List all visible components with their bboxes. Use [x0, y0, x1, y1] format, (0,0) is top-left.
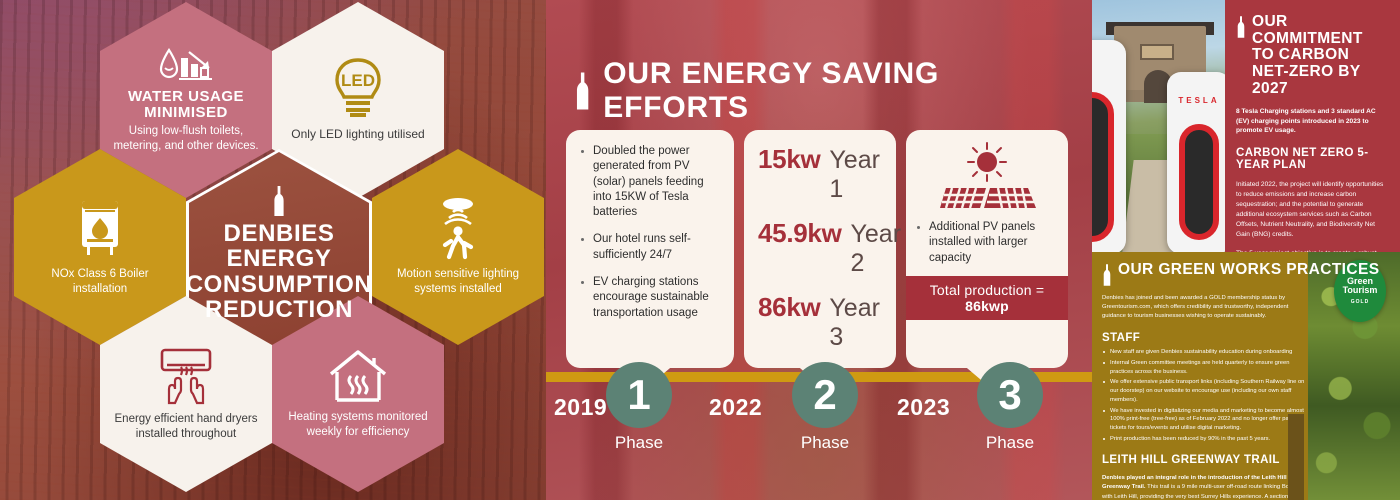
list-item: We have invested in digitalizing our med…	[1102, 407, 1307, 433]
list-item: EV charging stations encourage sustainab…	[580, 275, 720, 321]
card-energy-bullets: Doubled the power generated from PV (sol…	[566, 130, 734, 368]
hex-sub-nox: NOx Class 6 Boiler installation	[26, 267, 174, 296]
timeline-year-2023: 2023	[897, 394, 950, 421]
trail-paragraph: Denbies played an integral role in the i…	[1102, 474, 1302, 500]
phase-marker-2[interactable]: 2 Phase	[792, 362, 858, 453]
total-production-label: Total production =	[930, 282, 1045, 298]
hand-dryer-icon	[155, 347, 217, 405]
boiler-flame-icon	[74, 197, 126, 259]
tesla-charger-left	[1092, 40, 1126, 252]
total-production-value: 86kwp	[965, 298, 1009, 314]
svg-text:LED: LED	[341, 71, 375, 90]
hex-sub-dryer: Energy efficient hand dryers installed t…	[112, 412, 260, 441]
commitment-subheading: CARBON NET ZERO 5-YEAR PLAN	[1236, 147, 1387, 171]
phase-number-3: 3	[977, 362, 1043, 428]
staff-bullet-list: New staff are given Denbies sustainabili…	[1102, 348, 1307, 443]
list-item: We offer extensive public transport link…	[1102, 378, 1307, 404]
commitment-section: TESLA OUR COMMITMENT TO CARBON NET-ZERO …	[1092, 0, 1400, 252]
card-generation-figures: 15kw Year 1 45.9kw Year 2 86kw Year 3	[744, 130, 896, 368]
badge-line-3: GOLD	[1351, 299, 1369, 305]
brand-title: DENBIES ENERGY CONSUMPTION REDUCTION	[186, 221, 373, 323]
house-heat-waves-icon	[327, 348, 389, 404]
hex-sub-led: Only LED lighting utilised	[291, 127, 424, 142]
phase-number-1: 1	[606, 362, 672, 428]
total-production-bar: Total production = 86kwp	[906, 276, 1068, 320]
kw-value-year-3: 86kw	[758, 292, 820, 323]
timeline-phases: 2019 2022 2023 1 Phase 2 Phase 3 Phase	[546, 338, 1092, 468]
green-works-intro: Denbies has joined and been awarded a GO…	[1102, 294, 1302, 321]
charger-slot	[1092, 92, 1114, 242]
kw-value-year-2: 45.9kw	[758, 218, 842, 249]
charger-slot	[1179, 124, 1219, 240]
infographic-page: WATER USAGE MINIMISED Using low-flush to…	[0, 0, 1400, 500]
commitment-paragraph-1: Initiated 2022, the project will identif…	[1236, 180, 1387, 239]
hex-title-water: WATER USAGE MINIMISED	[112, 89, 260, 120]
kw-label-year-1: Year 1	[829, 146, 882, 204]
phase-marker-3[interactable]: 3 Phase	[977, 362, 1043, 453]
energy-heading-row: OUR ENERGY SAVING EFFORTS	[574, 57, 1074, 125]
commitment-text-block: OUR COMMITMENT TO CARBON NET-ZERO BY 202…	[1225, 0, 1400, 252]
energy-cards: Doubled the power generated from PV (sol…	[566, 130, 1076, 368]
tree-trunk	[1288, 414, 1304, 500]
motion-sensor-walking-person-icon	[431, 197, 485, 261]
timeline-year-2022: 2022	[709, 394, 762, 421]
kw-value-year-1: 15kw	[758, 144, 820, 175]
list-item: Print production has been reduced by 90%…	[1102, 435, 1307, 444]
phase-marker-1[interactable]: 1 Phase	[606, 362, 672, 453]
wine-bottle-icon	[1236, 16, 1246, 38]
hex-card-motion-lighting[interactable]: Motion sensitive lighting systems instal…	[372, 149, 544, 345]
panel-energy-saving-efforts: OUR ENERGY SAVING EFFORTS Doubled the po…	[546, 0, 1092, 500]
panel-hexagon-grid: WATER USAGE MINIMISED Using low-flush to…	[0, 0, 546, 500]
panel-right-column: TESLA OUR COMMITMENT TO CARBON NET-ZERO …	[1092, 0, 1400, 500]
table-row: 15kw Year 1	[758, 144, 882, 204]
kw-label-year-2: Year 2	[851, 220, 902, 278]
energy-heading: OUR ENERGY SAVING EFFORTS	[603, 57, 1074, 125]
phase-label-3: Phase	[977, 433, 1043, 453]
wine-bottle-icon	[272, 186, 286, 216]
wine-bottle-icon	[1102, 264, 1112, 286]
list-item: Internal Green committee meetings are he…	[1102, 359, 1307, 376]
green-works-heading: OUR GREEN WORKS PRACTICES	[1118, 262, 1379, 279]
wine-bottle-icon	[574, 71, 591, 111]
phase-number-2: 2	[792, 362, 858, 428]
sun-solar-panel-icon	[928, 142, 1046, 218]
phase-label-1: Phase	[606, 433, 672, 453]
tesla-wordmark: TESLA	[1167, 96, 1225, 105]
tesla-charger-right: TESLA	[1167, 72, 1225, 252]
list-item: Additional PV panels installed with larg…	[916, 220, 1058, 266]
hex-sub-heating: Heating systems monitored weekly for eff…	[284, 410, 432, 439]
table-row: 45.9kw Year 2	[758, 218, 882, 278]
list-item: Our hotel runs self-sufficiently 24/7	[580, 232, 720, 263]
tesla-supercharger-photo: TESLA	[1092, 0, 1225, 252]
badge-line-2: Tourism	[1343, 286, 1378, 296]
hex-sub-motion: Motion sensitive lighting systems instal…	[384, 267, 532, 296]
green-works-section: Green Tourism GOLD OUR GREEN WORKS PRACT…	[1092, 252, 1400, 500]
list-item: New staff are given Denbies sustainabili…	[1102, 348, 1307, 357]
commitment-intro: 8 Tesla Charging stations and 3 standard…	[1236, 107, 1387, 137]
phase-label-2: Phase	[792, 433, 858, 453]
list-item: Doubled the power generated from PV (sol…	[580, 144, 720, 220]
water-drop-bar-chart-icon	[157, 46, 215, 84]
commitment-heading: OUR COMMITMENT TO CARBON NET-ZERO BY 202…	[1252, 14, 1387, 98]
timeline-year-2019: 2019	[554, 394, 607, 421]
photo-window	[1140, 44, 1174, 60]
card-additional-pv: Additional PV panels installed with larg…	[906, 130, 1068, 368]
led-lightbulb-icon: LED	[332, 57, 384, 119]
